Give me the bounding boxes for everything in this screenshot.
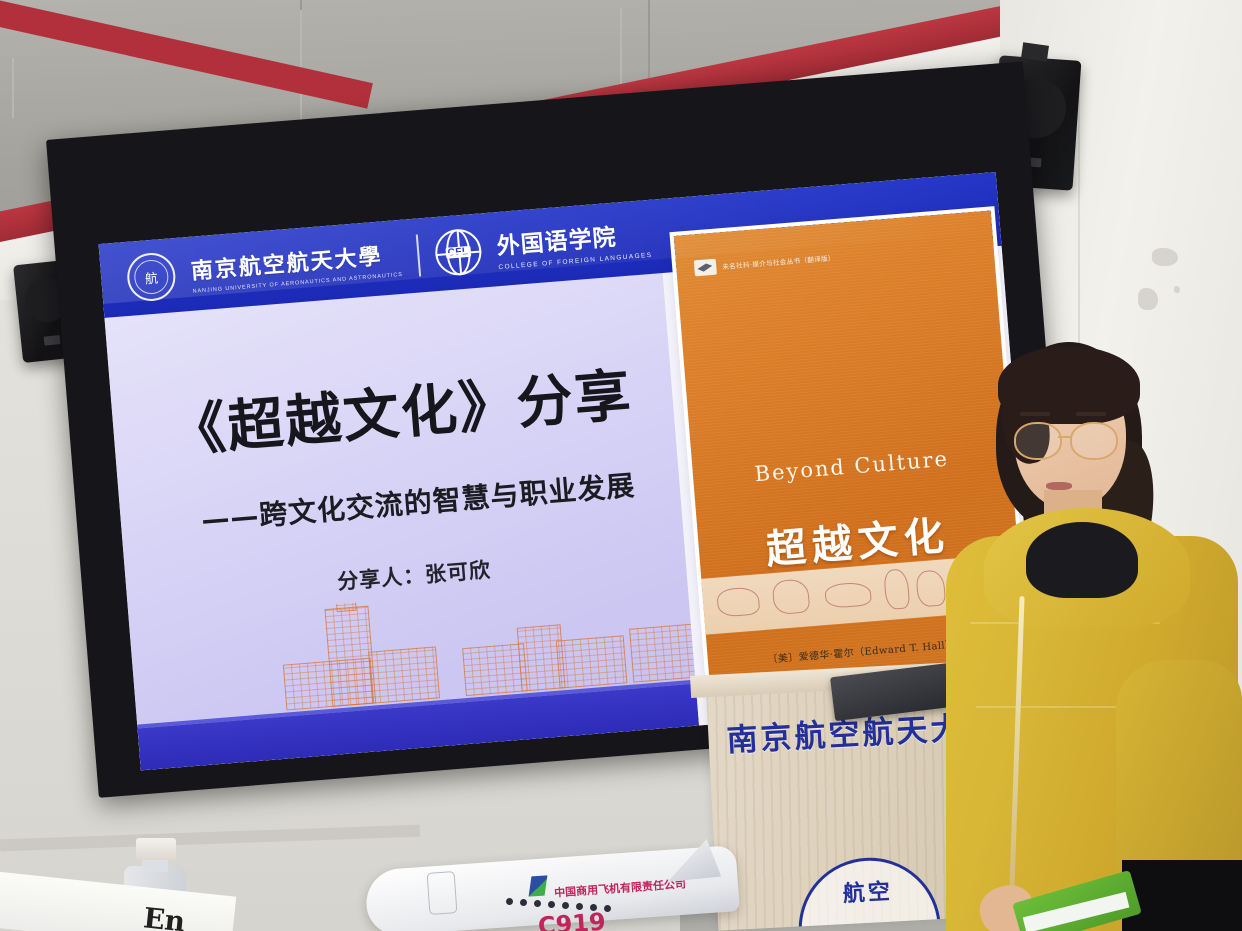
header-divider [416, 235, 421, 277]
aircraft-door [427, 871, 458, 915]
jacket-collar-opening [1026, 522, 1138, 598]
aircraft-model: 中国商用飞机有限责任公司 C919 [366, 836, 766, 931]
glasses-bridge [1058, 436, 1072, 438]
frieze-glyph [716, 586, 760, 617]
frieze-glyph [883, 568, 910, 610]
mouth [1046, 482, 1072, 490]
wall-blemish [1152, 248, 1178, 266]
aircraft-window [506, 898, 513, 905]
podium-emblem-text: 航空 [842, 874, 894, 909]
globe-ellipse [444, 228, 472, 276]
wall-blemish [1174, 286, 1180, 293]
publisher-logo-icon [694, 259, 717, 277]
cfl-mark: CFL [445, 246, 471, 259]
aircraft-window [604, 905, 611, 912]
glasses-lens-right [1070, 422, 1118, 460]
skyline-building [368, 646, 440, 703]
frieze-glyph [824, 581, 872, 609]
aircraft-model-text: C919 [537, 908, 607, 931]
speaker-badge [44, 335, 61, 346]
glasses [1014, 422, 1130, 456]
lecture-hall-photo: 航 南京航空航天大學 NANJING UNIVERSITY OF AERONAU… [0, 0, 1242, 931]
background-dark-gap [1122, 860, 1242, 931]
bottle-cap [136, 838, 176, 860]
aircraft-window [562, 902, 569, 909]
presenter [940, 330, 1240, 931]
glasses-lens-left [1014, 422, 1062, 460]
globe-icon: CFL [433, 228, 483, 278]
university-seal-icon: 航 [125, 251, 177, 303]
skyline-building [629, 624, 697, 683]
aircraft-window [534, 900, 541, 907]
aircraft-window [548, 901, 555, 908]
skyline-building [556, 635, 628, 688]
aircraft-window [520, 899, 527, 906]
speaker-bracket [1021, 42, 1049, 61]
seal-glyph: 航 [144, 267, 158, 287]
eyebrow [1076, 412, 1106, 416]
name-card-text: En [142, 901, 187, 931]
eyebrow [1020, 412, 1050, 416]
frieze-glyph [772, 578, 811, 615]
wall-blemish [1138, 288, 1158, 310]
aircraft-livery-logo [529, 875, 548, 896]
hanging-rod [12, 58, 14, 118]
